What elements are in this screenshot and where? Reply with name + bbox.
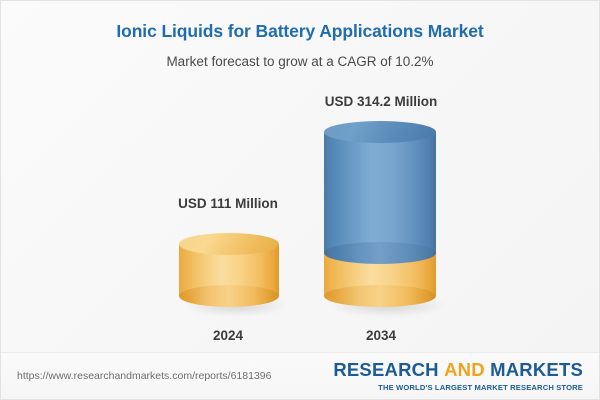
- logo-word-research: RESEARCH: [333, 359, 438, 380]
- cylinder-midjoint-2034: [324, 242, 436, 264]
- category-label-2034: 2034: [296, 328, 466, 343]
- value-label-2034: USD 314.2 Million: [296, 94, 466, 109]
- footer-bar: https://www.researchandmarkets.com/repor…: [1, 352, 599, 399]
- cylinder-bar-2024[interactable]: [179, 233, 279, 307]
- report-url[interactable]: https://www.researchandmarkets.com/repor…: [17, 370, 271, 382]
- market-forecast-infographic: Ionic Liquids for Battery Applications M…: [0, 0, 600, 400]
- research-and-markets-logo[interactable]: RESEARCH AND MARKETS THE WORLD'S LARGEST…: [333, 361, 583, 391]
- chart-plot-area: USD 111 Million 2024 USD 314.2 Million: [1, 87, 600, 347]
- cylinder-base-2034: [324, 285, 436, 307]
- cylinder-top-2034: [324, 121, 436, 143]
- logo-word-markets: MARKETS: [490, 359, 583, 380]
- chart-header: Ionic Liquids for Battery Applications M…: [1, 1, 599, 70]
- cylinder-top-2024: [179, 233, 279, 255]
- cylinder-body-blue-2034: [324, 132, 436, 253]
- cylinder-base-2024: [179, 285, 279, 307]
- page-title: Ionic Liquids for Battery Applications M…: [1, 21, 599, 42]
- logo-tagline: THE WORLD'S LARGEST MARKET RESEARCH STOR…: [333, 384, 583, 392]
- logo-wordmark: RESEARCH AND MARKETS: [333, 361, 583, 380]
- value-label-2024: USD 111 Million: [143, 196, 313, 211]
- cylinder-bar-2034[interactable]: [324, 121, 436, 307]
- chart-subtitle: Market forecast to grow at a CAGR of 10.…: [1, 54, 599, 70]
- category-label-2024: 2024: [143, 328, 313, 343]
- logo-word-and: AND: [444, 359, 485, 380]
